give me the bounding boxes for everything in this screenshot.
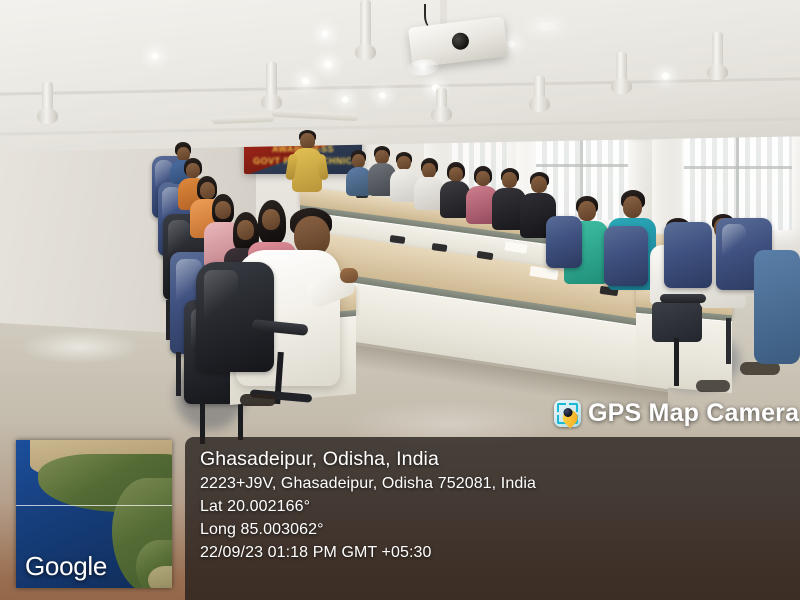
gps-map-camera-brand: GPS Map Camera <box>554 399 799 428</box>
google-watermark: Google <box>25 551 107 582</box>
head <box>375 150 389 164</box>
projector-lens <box>451 32 470 51</box>
ceiling-downlight <box>340 96 350 103</box>
head <box>531 176 547 193</box>
chair-back <box>546 216 582 268</box>
footwear <box>240 394 276 406</box>
head <box>397 156 411 170</box>
attendee-legs <box>754 250 800 364</box>
floor-highlight <box>20 330 140 364</box>
head <box>476 171 490 186</box>
gps-map-camera-icon <box>554 400 581 427</box>
map-divider-line <box>16 505 172 506</box>
chair-leg <box>166 300 170 340</box>
gps-info-panel: Ghasadeipur, Odisha, India 2223+J9V, Gha… <box>185 437 800 600</box>
chair <box>604 226 648 286</box>
ceiling-downlight <box>322 60 334 69</box>
gps-latitude-label: Lat 20.002166° <box>200 495 790 518</box>
ceiling-fan-mount <box>42 82 53 116</box>
chair-back <box>604 226 648 286</box>
gps-longitude-label: Long 85.003062° <box>200 518 790 541</box>
gps-timestamp-label: 22/09/23 01:18 PM GMT +05:30 <box>200 541 790 564</box>
map-thumbnail[interactable]: Google <box>16 440 172 588</box>
footwear <box>696 380 730 392</box>
head <box>623 196 642 218</box>
ceiling-fan-mount <box>534 76 545 104</box>
app-name-label: GPS Map Camera <box>588 399 799 428</box>
chair-leg <box>176 352 181 396</box>
ceiling-fan-mount <box>712 32 723 72</box>
head <box>449 167 463 182</box>
ceiling <box>0 0 800 152</box>
chair-back <box>664 222 712 288</box>
chair <box>664 222 712 288</box>
ceiling-fan-mount <box>436 88 447 114</box>
chair-leg <box>674 338 679 386</box>
ceiling-fan-mount <box>266 62 277 102</box>
head <box>422 163 436 178</box>
head <box>300 133 315 149</box>
ceiling-downlight <box>506 40 516 48</box>
ceiling-band <box>0 117 800 137</box>
ceiling-downlight <box>150 52 160 60</box>
chair-highlight <box>722 224 746 260</box>
head <box>502 172 517 188</box>
ceiling-downlight <box>378 92 387 99</box>
chair-armrest <box>660 294 706 303</box>
chair-leg <box>726 318 731 364</box>
chair-highlight <box>204 270 238 326</box>
ceiling-downlight <box>532 22 560 30</box>
office-chair-foreground <box>196 262 308 396</box>
head <box>352 154 365 168</box>
camera-lens-icon <box>563 408 572 417</box>
ceiling-downlight <box>660 72 671 80</box>
trousers <box>652 302 702 342</box>
ceiling-downlight <box>300 77 311 85</box>
ceiling-fan-mount <box>616 52 627 86</box>
ceiling-fan-mount <box>360 0 371 52</box>
ceiling-band <box>0 76 800 96</box>
screenshot-root: AWARENESS GOVT POLYTECHNIC <box>0 0 800 600</box>
hand <box>340 268 358 283</box>
gps-place-label: Ghasadeipur, Odisha, India <box>200 446 790 472</box>
gps-address-label: 2223+J9V, Ghasadeipur, Odisha 752081, In… <box>200 472 790 495</box>
chair <box>546 216 582 268</box>
speaker-presenter <box>290 130 324 192</box>
ceiling-downlight <box>320 30 330 38</box>
